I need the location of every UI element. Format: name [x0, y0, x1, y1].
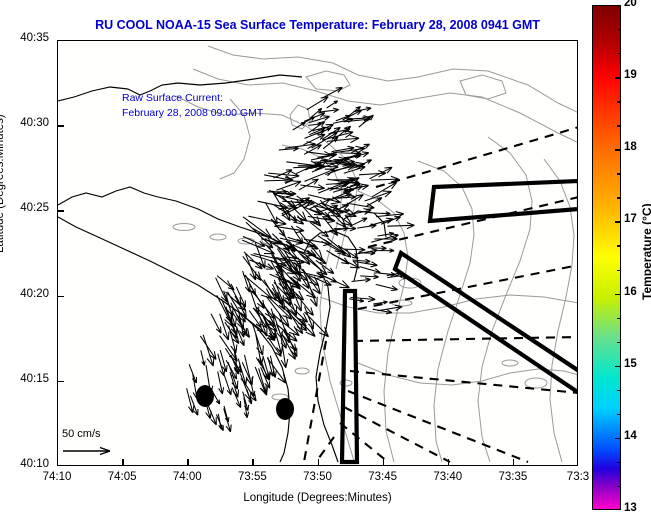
current-vector	[327, 101, 338, 108]
x-tick-label: 73:35	[487, 471, 539, 483]
current-vector	[249, 284, 264, 309]
current-vector	[274, 328, 282, 354]
scale-legend: 50 cm/s	[62, 428, 122, 456]
y-tick-label: 40:30	[7, 117, 49, 129]
colorbar-tick-label: 16	[624, 286, 637, 298]
y-tick-mark	[57, 381, 64, 382]
current-vector	[258, 201, 288, 209]
y-tick-label: 40:10	[7, 458, 49, 470]
current-vector	[360, 275, 378, 279]
bold-rectangle-1	[430, 181, 578, 221]
x-tick-label: 73:50	[292, 471, 344, 483]
colorbar-minor-tick	[617, 270, 621, 271]
current-vector	[201, 350, 205, 365]
colorbar-minor-tick	[617, 462, 621, 463]
y-tick-mark	[57, 210, 64, 211]
scale-reference-arrow	[62, 444, 122, 456]
colorbar-minor-tick	[617, 342, 621, 343]
current-vector	[224, 406, 229, 422]
current-vector	[216, 278, 228, 303]
current-vector	[285, 142, 316, 149]
colorbar-minor-tick	[617, 318, 621, 319]
current-vector	[359, 171, 386, 177]
y-tick-label: 40:25	[7, 202, 49, 214]
colorbar-tick-label: 14	[624, 430, 637, 442]
bold-rectangle-3	[342, 291, 357, 462]
current-vector	[217, 276, 234, 290]
y-tick-label: 40:20	[7, 288, 49, 300]
colorbar-tick-label: 18	[624, 141, 637, 153]
current-vector	[224, 375, 231, 395]
current-vector	[232, 387, 241, 407]
current-vector	[378, 249, 395, 253]
current-vector	[211, 314, 221, 334]
colorbar-tick-mark	[615, 366, 621, 367]
surface-current-vectors	[187, 87, 415, 432]
current-vector	[274, 226, 304, 233]
bold-rectangle-2	[395, 253, 578, 393]
colorbar-tick-mark	[615, 221, 621, 222]
current-vector	[299, 179, 319, 190]
colorbar-minor-tick	[617, 197, 621, 198]
current-vector	[276, 181, 301, 190]
annotation-line-2: February 28, 2008 09:00 GMT	[122, 106, 263, 121]
colorbar-minor-tick	[617, 245, 621, 246]
x-tick-mark	[252, 459, 253, 466]
colorbar-minor-tick	[617, 414, 621, 415]
x-axis-label: Longitude (Degrees:Minutes)	[57, 492, 578, 504]
colorbar-minor-tick	[617, 390, 621, 391]
y-tick-label: 40:15	[7, 373, 49, 385]
colorbar-tick-label: 15	[624, 358, 637, 370]
x-tick-mark	[318, 459, 319, 466]
x-tick-mark	[187, 459, 188, 466]
colorbar[interactable]	[592, 5, 621, 510]
current-vector	[268, 172, 299, 179]
current-vector	[351, 218, 367, 226]
colorbar-minor-tick	[617, 101, 621, 102]
colorbar-tick-mark	[615, 294, 621, 295]
colorbar-minor-tick	[617, 173, 621, 174]
x-tick-label: 74:05	[96, 471, 148, 483]
colorbar-minor-tick	[617, 29, 621, 30]
x-tick-label: 74:10	[31, 471, 83, 483]
annotation-line-1: Raw Surface Current:	[122, 91, 263, 106]
map-plot-area[interactable]: Raw Surface Current: February 28, 2008 0…	[57, 40, 578, 466]
x-tick-mark	[122, 459, 123, 466]
y-axis-label: Latitude (Degrees:Minutes)	[0, 114, 6, 253]
colorbar-minor-tick	[617, 125, 621, 126]
colorbar-tick-label: 13	[624, 502, 637, 514]
colorbar-tick-label: 17	[624, 213, 637, 225]
colorbar-tick-mark	[615, 438, 621, 439]
colorbar-minor-tick	[617, 53, 621, 54]
current-vector	[376, 284, 398, 290]
x-tick-mark	[513, 459, 514, 466]
x-tick-mark	[383, 459, 384, 466]
current-vector	[333, 146, 365, 153]
x-tick-label: 73:40	[422, 471, 474, 483]
x-tick-label: 73:55	[226, 471, 278, 483]
figure-title: RU COOL NOAA-15 Sea Surface Temperature:…	[57, 18, 578, 32]
y-tick-mark	[57, 296, 64, 297]
station-marker-1	[196, 385, 214, 407]
colorbar-tick-label: 19	[624, 69, 637, 81]
y-tick-label: 40:35	[7, 32, 49, 44]
colorbar-label: Temperature (°C)	[640, 203, 651, 300]
colorbar-tick-mark	[615, 77, 621, 78]
scale-legend-label: 50 cm/s	[62, 428, 122, 440]
current-vector	[360, 267, 381, 274]
current-vector	[359, 115, 374, 127]
current-vector	[318, 236, 344, 253]
colorbar-tick-mark	[615, 149, 621, 150]
current-vector	[200, 336, 216, 359]
x-tick-label: 73:45	[357, 471, 409, 483]
x-tick-mark	[448, 459, 449, 466]
x-tick-label: 74:00	[161, 471, 213, 483]
annotation-text: Raw Surface Current: February 28, 2008 0…	[122, 91, 263, 121]
station-marker-2	[276, 398, 294, 420]
current-vector	[369, 167, 392, 179]
colorbar-minor-tick	[617, 486, 621, 487]
colorbar-tick-label: 20	[624, 0, 637, 9]
y-tick-mark	[57, 125, 64, 126]
current-vector	[307, 97, 329, 110]
current-vector	[218, 354, 225, 376]
figure-canvas: RU COOL NOAA-15 Sea Surface Temperature:…	[0, 0, 651, 518]
current-vector	[189, 364, 196, 383]
